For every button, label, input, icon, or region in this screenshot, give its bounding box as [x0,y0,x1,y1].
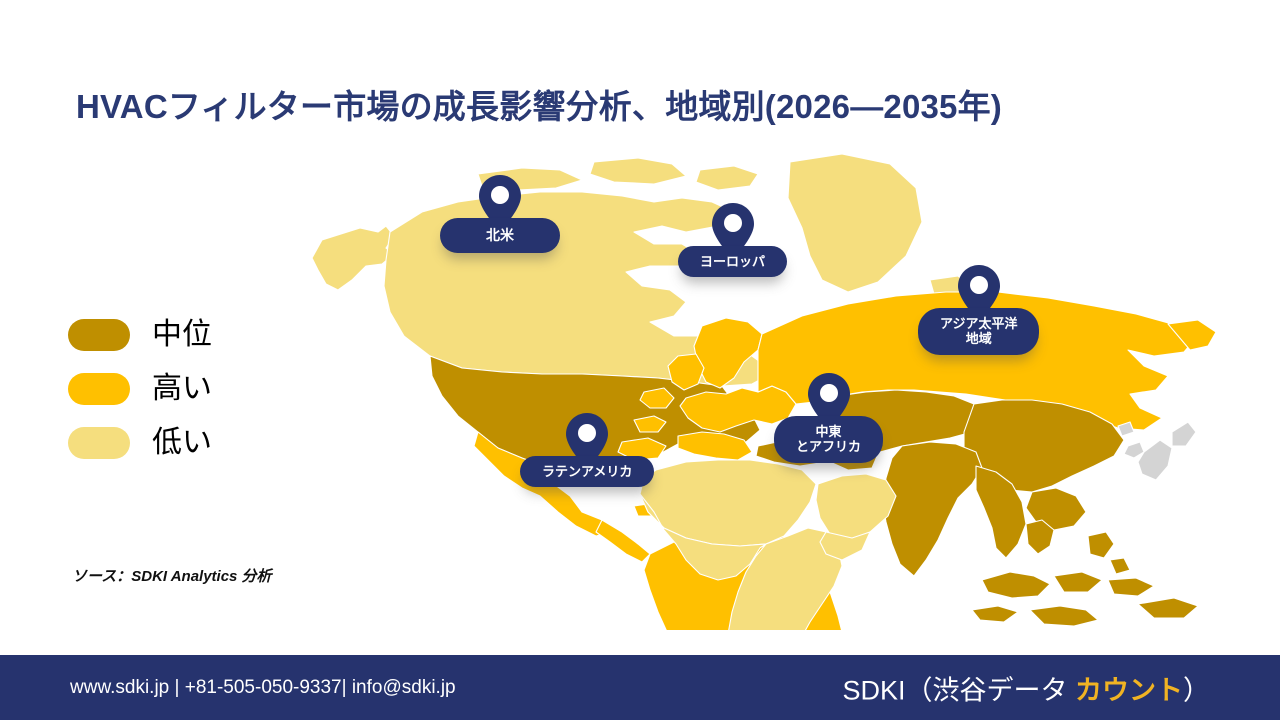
legend-swatch-high [68,373,130,405]
legend-swatch-low [68,427,130,459]
legend-item-low: 低い [68,420,212,466]
legend-label-medium: 中位 [152,320,212,350]
footer-bar: www.sdki.jp | +81-505-050-9337| info@sdk… [0,655,1280,720]
footer-brand-logo: SDKI（渋谷データ カウント） [842,668,1210,707]
map-marker-label-north-america: 北米 [440,218,560,253]
legend-label-low: 低い [152,428,212,458]
page-title: HVACフィルター市場の成長影響分析、地域別(2026—2035年) [76,80,1206,128]
legend-label-high: 高い [152,374,212,404]
legend: 中位 高い 低い [68,312,212,474]
map-marker-europe[interactable]: ヨーロッパ [678,202,787,277]
map-marker-asia-pacific[interactable]: アジア太平洋 地域 [918,264,1039,355]
world-map: 北米 ヨーロッパ アジア太平洋 地域 中東 とアフリカ ラテンアメリカ [282,140,1242,630]
map-marker-north-america[interactable]: 北米 [440,174,560,253]
map-marker-label-asia-pacific: アジア太平洋 地域 [918,308,1039,355]
brand-prefix: SDKI（渋谷データ [842,675,1075,705]
legend-item-high: 高い [68,366,212,412]
map-marker-middle-east-africa[interactable]: 中東 とアフリカ [774,372,883,463]
brand-accent: カウント [1075,675,1183,705]
map-marker-label-middle-east-africa: 中東 とアフリカ [774,416,883,463]
map-marker-label-latin-america: ラテンアメリカ [520,456,654,487]
footer-contact-info[interactable]: www.sdki.jp | +81-505-050-9337| info@sdk… [70,677,456,699]
region-japan-neutral [1118,422,1196,480]
slide-root: HVACフィルター市場の成長影響分析、地域別(2026—2035年) 中位 高い… [0,0,1280,720]
legend-swatch-medium [68,319,130,351]
map-marker-label-europe: ヨーロッパ [678,246,787,277]
map-marker-latin-america[interactable]: ラテンアメリカ [520,412,654,487]
source-note: ソース：SDKI Analytics 分析 [72,565,272,586]
legend-item-medium: 中位 [68,312,212,358]
brand-suffix: ） [1183,675,1210,705]
